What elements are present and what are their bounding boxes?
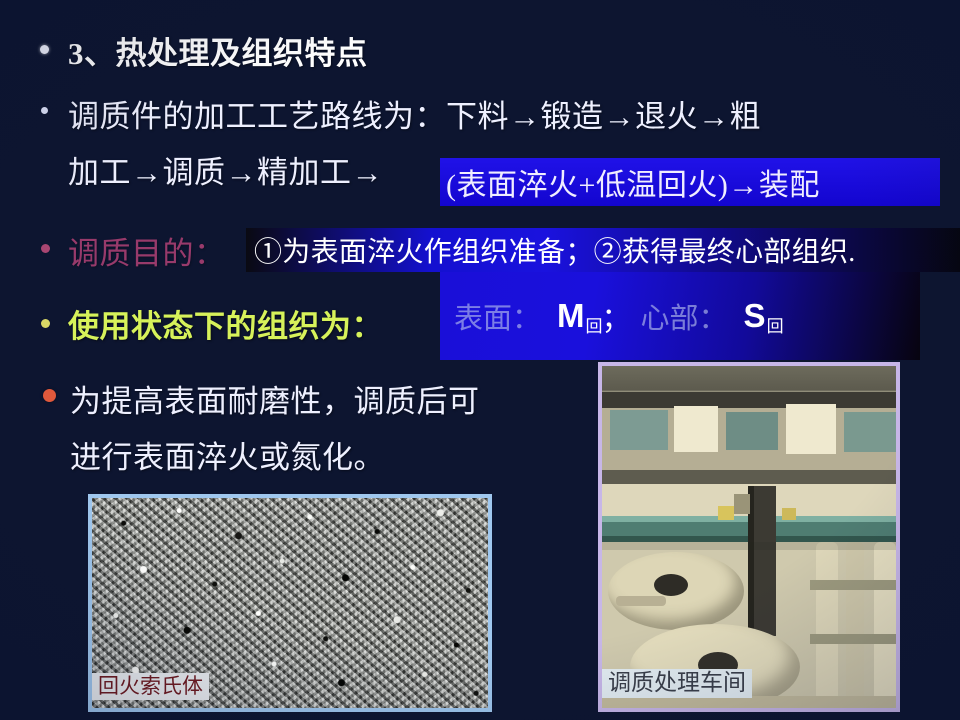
overlay-route-text: (表面淬火+低温回火)→装配 xyxy=(446,160,820,204)
process-route-line-1: 调质件的加工工艺路线为：下料→锻造→退火→粗 xyxy=(68,91,761,136)
bullet-marker-process-route xyxy=(41,107,48,114)
process-route-line-2: 加工→调质→精加工→ xyxy=(68,147,383,192)
surface-label: 表面： xyxy=(454,295,541,337)
micrograph-caption: 回火索氏体 xyxy=(92,673,209,700)
surface-phase-subscript: 回 xyxy=(586,312,603,337)
bullet-marker-wear-note xyxy=(43,389,56,402)
overlay-box-purpose: ①为表面淬火作组织准备；②获得最终心部组织. xyxy=(246,228,960,272)
wear-note-line-1: 为提高表面耐磨性，调质后可 xyxy=(70,376,480,421)
overlay-box-process-route: (表面淬火+低温回火)→装配 xyxy=(440,158,940,206)
core-phase-subscript: 回 xyxy=(767,312,784,337)
core-phase-symbol: S xyxy=(744,297,766,335)
core-label: 心部： xyxy=(641,295,728,337)
bullet-marker-purpose xyxy=(41,244,50,253)
surface-phase-symbol: M xyxy=(557,297,585,335)
workshop-image xyxy=(602,366,896,708)
overlay-box-microstructure: 表面： M回 ； 心部： S回 xyxy=(440,272,920,360)
purpose-label: 调质目的： xyxy=(68,228,226,273)
wear-note-line-2: 进行表面淬火或氮化。 xyxy=(70,432,385,477)
workshop-caption: 调质处理车间 xyxy=(602,669,752,698)
presentation-slide: 3、热处理及组织特点 调质件的加工工艺路线为：下料→锻造→退火→粗 加工→调质→… xyxy=(0,0,960,720)
bullet-marker-service-structure xyxy=(41,319,50,328)
bullet-marker-heading xyxy=(40,45,49,54)
phase-separator: ； xyxy=(602,295,631,337)
slide-heading: 3、热处理及组织特点 xyxy=(68,28,368,73)
service-structure-label: 使用状态下的组织为： xyxy=(68,301,383,346)
overlay-purpose-text: ①为表面淬火作组织准备；②获得最终心部组织. xyxy=(254,230,856,270)
workshop-photo xyxy=(598,362,900,712)
